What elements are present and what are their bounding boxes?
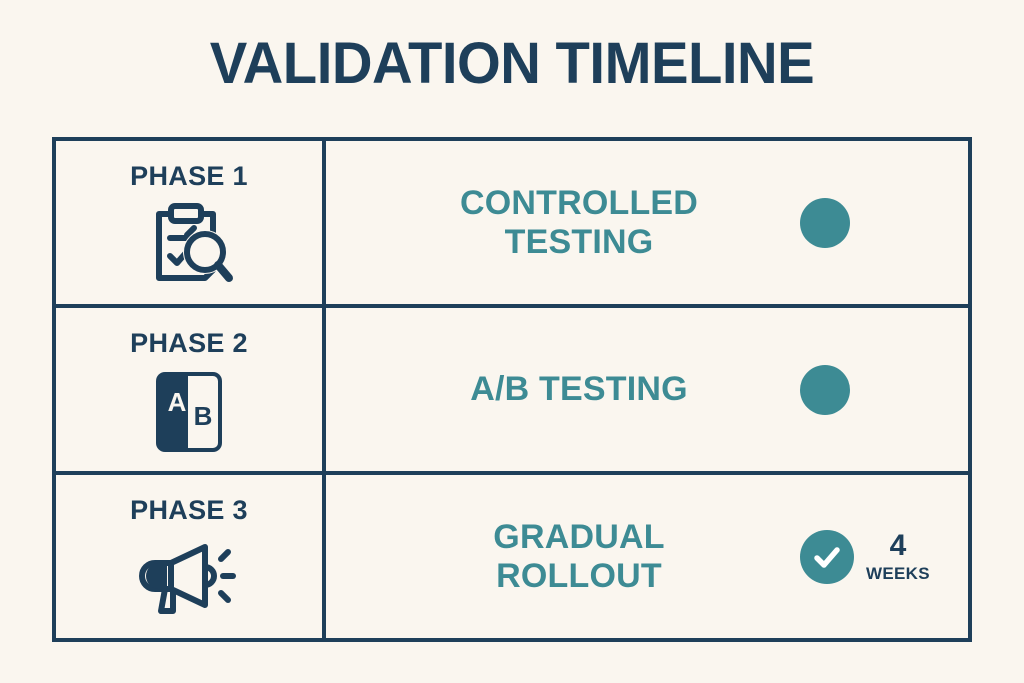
phase-cell-2: PHASE 2 A B xyxy=(56,308,326,471)
phase-title-line1: A/B TESTING xyxy=(470,370,688,408)
table-row: PHASE 3 xyxy=(56,475,968,638)
duration-badge: 4 WEEKS xyxy=(866,531,930,582)
phase-label: PHASE 3 xyxy=(130,497,248,524)
status-slot-1 xyxy=(782,198,968,248)
check-circle-icon xyxy=(800,530,854,584)
phase-label: PHASE 1 xyxy=(130,163,248,190)
body-cell-2: A/B TESTING xyxy=(326,308,968,471)
ab-letter-a: A xyxy=(164,389,190,415)
body-cell-1: CONTROLLED TESTING xyxy=(326,141,968,304)
duration-value: 4 xyxy=(866,531,930,561)
body-cell-3: GRADUAL ROLLOUT 4 WEEKS xyxy=(326,475,968,638)
table-row: PHASE 2 A B A/B TESTING xyxy=(56,308,968,475)
phase-title-3: GRADUAL ROLLOUT xyxy=(326,518,782,595)
status-dot-icon xyxy=(800,365,850,415)
status-slot-3: 4 WEEKS xyxy=(782,530,968,584)
phase-cell-3: PHASE 3 xyxy=(56,475,326,638)
page-title: VALIDATION TIMELINE xyxy=(15,35,1008,93)
phase-title-line2: ROLLOUT xyxy=(496,557,662,595)
phase-cell-1: PHASE 1 xyxy=(56,141,326,304)
ab-split-icon: A B xyxy=(156,369,222,455)
status-dot-icon xyxy=(800,198,850,248)
phase-title-line1: CONTROLLED xyxy=(460,184,698,222)
phase-label: PHASE 2 xyxy=(130,330,248,357)
timeline-table: PHASE 1 xyxy=(52,137,972,642)
phase-title-2: A/B TESTING xyxy=(326,370,782,408)
megaphone-icon xyxy=(139,536,239,622)
phase-title-line1: GRADUAL xyxy=(493,518,664,556)
duration-unit: WEEKS xyxy=(866,565,930,582)
clipboard-magnifier-icon xyxy=(143,202,235,288)
status-slot-2 xyxy=(782,365,968,415)
table-row: PHASE 1 xyxy=(56,141,968,308)
phase-title-1: CONTROLLED TESTING xyxy=(326,184,782,261)
phase-title-line2: TESTING xyxy=(505,223,654,261)
validation-timeline-poster: VALIDATION TIMELINE PHASE 1 xyxy=(0,0,1024,683)
ab-letter-b: B xyxy=(188,403,218,429)
